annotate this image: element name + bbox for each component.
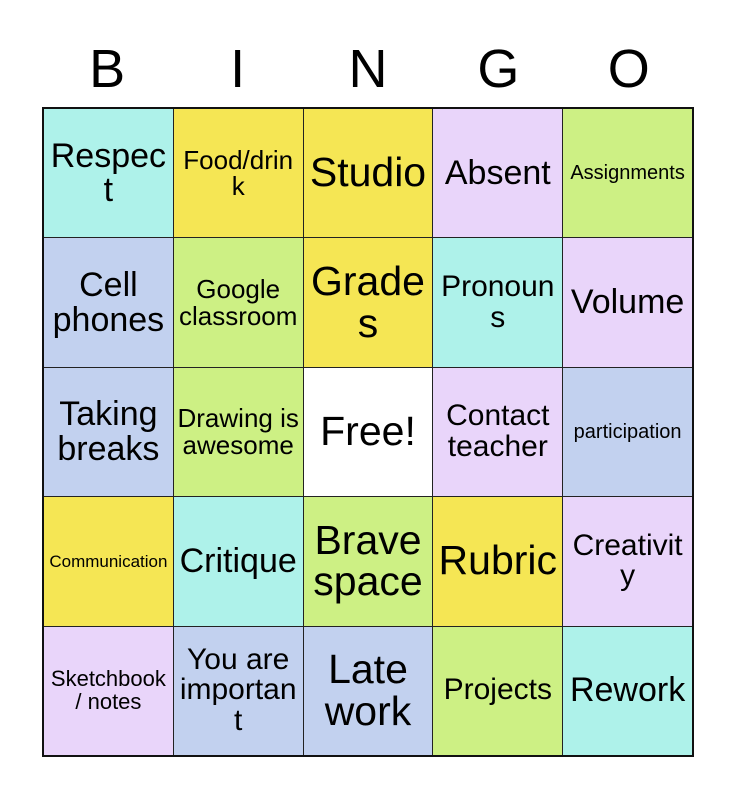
bingo-cell[interactable]: You are important bbox=[174, 627, 303, 755]
bingo-cell-label: Food/drink bbox=[177, 147, 300, 200]
bingo-cell[interactable]: Communication bbox=[44, 497, 173, 625]
bingo-card: B I N G O RespectFood/drinkStudioAbsentA… bbox=[0, 0, 736, 800]
bingo-cell-label: Absent bbox=[436, 156, 559, 191]
bingo-cell-label: Free! bbox=[307, 411, 430, 453]
bingo-cell-label: Studio bbox=[307, 152, 430, 194]
bingo-cell[interactable]: Studio bbox=[304, 109, 433, 237]
bingo-cell[interactable]: Critique bbox=[174, 497, 303, 625]
header-letter-n: N bbox=[303, 42, 433, 96]
bingo-cell-label: Google classroom bbox=[177, 276, 300, 329]
bingo-cell[interactable]: Grades bbox=[304, 238, 433, 366]
bingo-cell-label: Critique bbox=[177, 544, 300, 579]
bingo-cell[interactable]: Sketchbook / notes bbox=[44, 627, 173, 755]
bingo-cell[interactable]: Brave space bbox=[304, 497, 433, 625]
bingo-cell[interactable]: Assignments bbox=[563, 109, 692, 237]
bingo-cell[interactable]: Projects bbox=[433, 627, 562, 755]
bingo-cell-label: Pronouns bbox=[436, 272, 559, 333]
bingo-cell[interactable]: Food/drink bbox=[174, 109, 303, 237]
bingo-cell-label: participation bbox=[566, 422, 689, 442]
bingo-cell-label: Drawing is awesome bbox=[177, 405, 300, 458]
bingo-cell-label: Brave space bbox=[307, 520, 430, 604]
bingo-cell-label: Cell phones bbox=[47, 268, 170, 337]
bingo-cell-label: Projects bbox=[436, 675, 559, 706]
bingo-cell-label: Taking breaks bbox=[47, 397, 170, 466]
bingo-cell-label: Respect bbox=[47, 139, 170, 208]
bingo-cell[interactable]: Taking breaks bbox=[44, 368, 173, 496]
bingo-cell[interactable]: Respect bbox=[44, 109, 173, 237]
bingo-cell-label: Contact teacher bbox=[436, 401, 559, 462]
bingo-cell-label: Volume bbox=[566, 285, 689, 320]
bingo-cell[interactable]: Creativity bbox=[563, 497, 692, 625]
header-letter-o: O bbox=[564, 42, 694, 96]
bingo-cell-label: Grades bbox=[307, 261, 430, 345]
bingo-header: B I N G O bbox=[42, 34, 694, 104]
header-letter-i: I bbox=[172, 42, 302, 96]
bingo-cell-label: Rework bbox=[566, 673, 689, 708]
bingo-cell[interactable]: Contact teacher bbox=[433, 368, 562, 496]
bingo-cell[interactable]: participation bbox=[563, 368, 692, 496]
bingo-cell[interactable]: Rubric bbox=[433, 497, 562, 625]
bingo-cell[interactable]: Volume bbox=[563, 238, 692, 366]
bingo-cell-label: Sketchbook / notes bbox=[47, 668, 170, 713]
bingo-cell[interactable]: Google classroom bbox=[174, 238, 303, 366]
bingo-cell[interactable]: Late work bbox=[304, 627, 433, 755]
bingo-cell[interactable]: Cell phones bbox=[44, 238, 173, 366]
bingo-cell-label: Late work bbox=[307, 649, 430, 733]
bingo-cell-label: Rubric bbox=[436, 540, 559, 582]
bingo-cell[interactable]: Pronouns bbox=[433, 238, 562, 366]
header-letter-g: G bbox=[433, 42, 563, 96]
bingo-grid: RespectFood/drinkStudioAbsentAssignments… bbox=[42, 107, 694, 757]
bingo-cell[interactable]: Drawing is awesome bbox=[174, 368, 303, 496]
bingo-cell-label: Communication bbox=[47, 553, 170, 570]
bingo-cell-label: You are important bbox=[177, 645, 300, 737]
bingo-free-space[interactable]: Free! bbox=[304, 368, 433, 496]
header-letter-b: B bbox=[42, 42, 172, 96]
bingo-cell[interactable]: Absent bbox=[433, 109, 562, 237]
bingo-cell-label: Assignments bbox=[566, 163, 689, 183]
bingo-cell-label: Creativity bbox=[566, 531, 689, 592]
bingo-cell[interactable]: Rework bbox=[563, 627, 692, 755]
